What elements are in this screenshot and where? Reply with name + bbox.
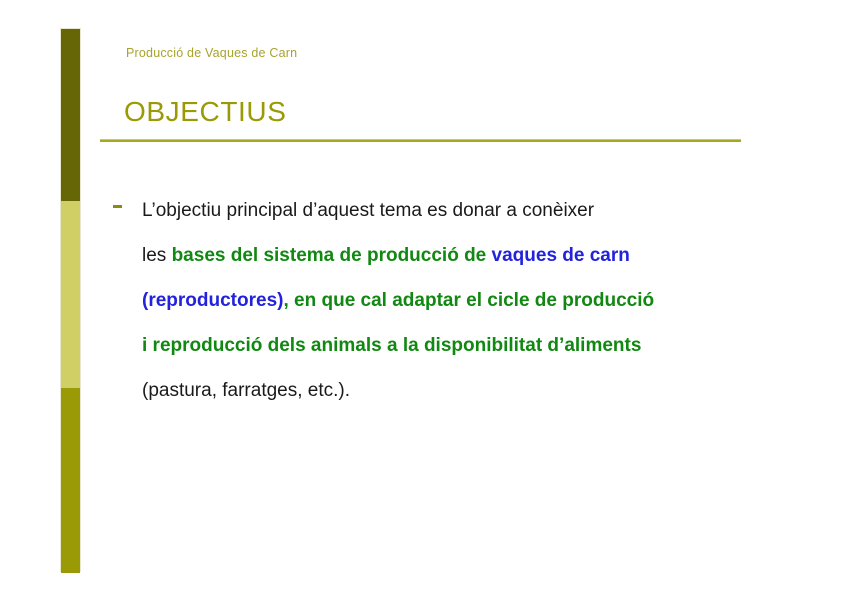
bullet-text-segment: , en que cal adaptar el cicle de producc…	[283, 290, 654, 311]
bullet-block: L’objectiu principal d’aquest tema es do…	[112, 188, 812, 413]
sidebar-segment-top	[61, 29, 80, 201]
page-title: OBJECTIUS	[124, 96, 287, 128]
bullet-line: (pastura, farratges, etc.).	[142, 380, 350, 401]
bullet-text-segment: (pastura, farratges, etc.).	[142, 380, 350, 401]
decorative-sidebar	[60, 28, 81, 572]
sidebar-segment-middle	[61, 201, 80, 388]
sidebar-segment-bottom	[61, 388, 80, 573]
bullet-text-segment: i reproducció dels animals a la disponib…	[142, 335, 641, 356]
bullet-line: i reproducció dels animals a la disponib…	[142, 335, 641, 356]
bullet-dash-icon	[113, 205, 122, 208]
bullet-text-segment: (reproductores)	[142, 290, 283, 311]
bullet-text-segment: vaques de carn	[492, 245, 630, 266]
bullet-line: (reproductores), en que cal adaptar el c…	[142, 290, 654, 311]
bullet-line: les bases del sistema de producció de va…	[142, 245, 630, 266]
bullet-paragraph: L’objectiu principal d’aquest tema es do…	[112, 188, 812, 413]
bullet-line: L’objectiu principal d’aquest tema es do…	[142, 200, 594, 221]
slide-eyebrow-text: Producció de Vaques de Carn	[126, 46, 297, 60]
title-divider	[100, 139, 741, 142]
slide-canvas: Producció de Vaques de Carn OBJECTIUS L’…	[0, 0, 848, 599]
bullet-text-segment: les	[142, 245, 172, 266]
bullet-text-segment: L’objectiu principal d’aquest tema es do…	[142, 200, 594, 221]
bullet-text-segment: bases del sistema de producció de	[172, 245, 492, 266]
